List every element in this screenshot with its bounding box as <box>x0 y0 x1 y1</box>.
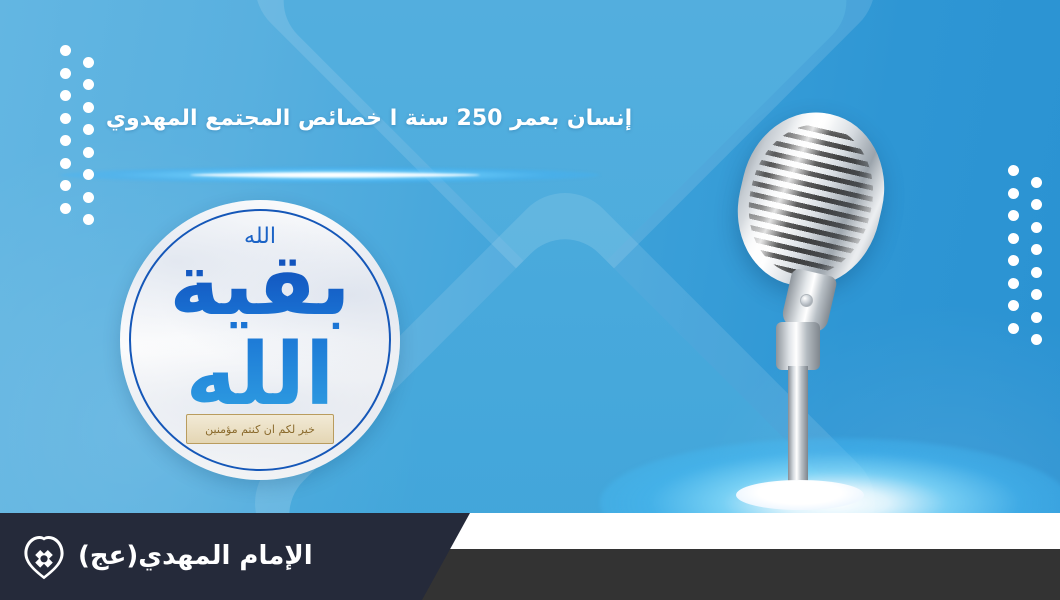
pattern-dot <box>1008 255 1019 266</box>
microphone-stand-base <box>736 480 864 510</box>
pattern-dot <box>1008 165 1019 176</box>
pattern-dot <box>1031 244 1042 255</box>
footer-brand[interactable]: الإمام المهدي(عج) <box>22 528 313 584</box>
light-streak-core <box>190 173 480 177</box>
pattern-dot <box>83 192 94 203</box>
pattern-dot <box>1008 323 1019 334</box>
footer-band-white <box>400 513 1060 549</box>
logo-ring <box>129 209 391 471</box>
footer-brand-label: الإمام المهدي(عج) <box>78 541 313 571</box>
pattern-dot <box>1031 222 1042 233</box>
footer-band-gray <box>400 549 1060 600</box>
microphone-head <box>722 98 900 300</box>
pattern-dot <box>83 169 94 180</box>
heart-shield-logo-icon <box>22 532 66 580</box>
pattern-dot <box>1008 188 1019 199</box>
pattern-dot <box>1031 267 1042 278</box>
logo-seal: الله بقية الله خير لكم ان كنتم مؤمنين <box>120 200 400 480</box>
pattern-dot <box>1008 210 1019 221</box>
pattern-dot <box>60 45 71 56</box>
pattern-dot <box>83 214 94 225</box>
microphone-grille <box>734 112 887 288</box>
pattern-dot <box>60 68 71 79</box>
pattern-dot <box>60 135 71 146</box>
microphone-pivot-knob <box>800 294 813 307</box>
pattern-dot <box>60 158 71 169</box>
pattern-dot <box>1031 199 1042 210</box>
microphone-collar <box>776 322 820 370</box>
pattern-dot <box>1031 177 1042 188</box>
thumbnail-canvas: إنسان بعمر 250 سنة ا خصائص المجتمع المهد… <box>0 0 1060 600</box>
pattern-dot <box>1008 278 1019 289</box>
pattern-dot <box>83 79 94 90</box>
pattern-dot <box>60 90 71 101</box>
pattern-dot <box>1031 312 1042 323</box>
pattern-dot <box>1031 289 1042 300</box>
pattern-dot <box>1008 300 1019 311</box>
microphone-stand-pole <box>788 366 808 494</box>
pattern-dot <box>60 180 71 191</box>
pattern-dot <box>60 203 71 214</box>
pattern-dot <box>1008 233 1019 244</box>
pattern-dot <box>83 147 94 158</box>
pattern-dot <box>83 57 94 68</box>
pattern-dot <box>1031 334 1042 345</box>
microphone-icon <box>700 60 970 480</box>
